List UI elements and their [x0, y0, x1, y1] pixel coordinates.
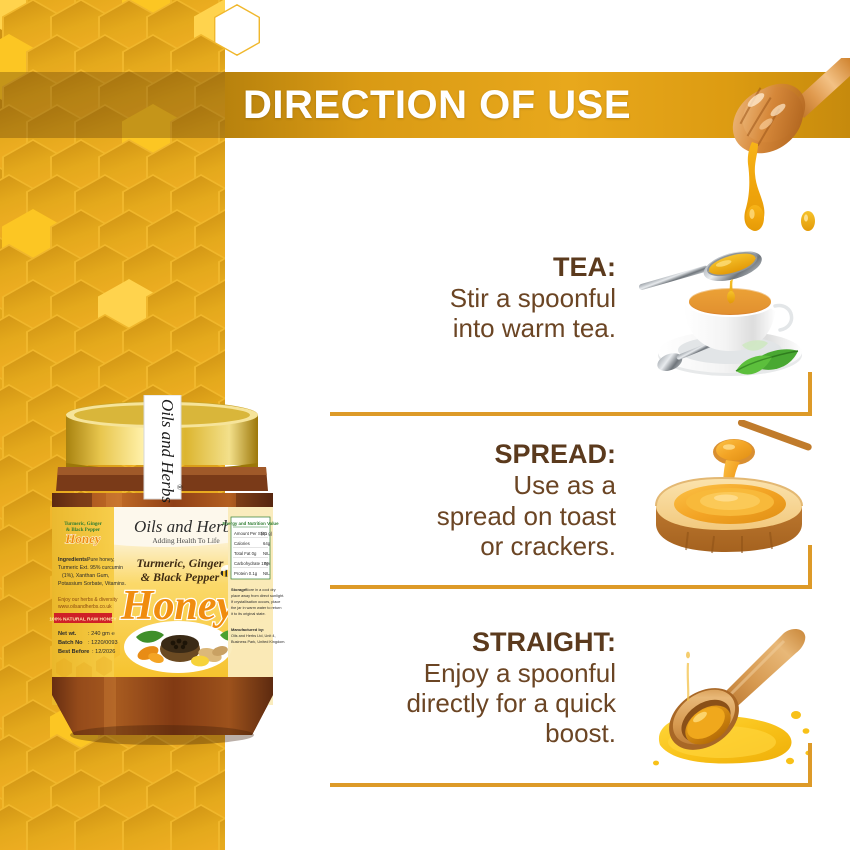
svg-text:(21 g): (21 g) [261, 531, 273, 536]
svg-text:: 1220/0093: : 1220/0093 [88, 640, 118, 646]
svg-text:Business Park, United Kingdom.: Business Park, United Kingdom. [231, 640, 285, 644]
svg-text:Oils and Herbs Ltd, Unit 4,: Oils and Herbs Ltd, Unit 4, [231, 634, 276, 638]
instruction-row-tea: TEA: Stir a spoonful into warm tea. [330, 205, 830, 390]
svg-text:NIL: NIL [263, 551, 270, 556]
svg-text:NIL: NIL [263, 571, 270, 576]
svg-text:Total Fat 0g: Total Fat 0g [234, 551, 257, 556]
svg-text:Manufactured by:: Manufactured by: [231, 627, 264, 632]
svg-text:Enjoy our herbs & diversity: Enjoy our herbs & diversity [58, 597, 118, 603]
infographic-canvas: DIRECTION OF USE [0, 0, 850, 850]
instructions-list: TEA: Stir a spoonful into warm tea. [330, 205, 830, 805]
instruction-text-spread: SPREAD: Use as a spread on toast or crac… [330, 439, 630, 561]
svg-text:Calories: Calories [234, 541, 250, 546]
instruction-body-straight-line2: directly for a quick [330, 688, 616, 718]
svg-text:it to its original state.: it to its original state. [231, 612, 266, 616]
svg-text:: 240 gm ℮: : 240 gm ℮ [88, 631, 115, 637]
brand-tagline: Adding Health To Life [152, 536, 220, 545]
instruction-text-straight: STRAIGHT: Enjoy a spoonful directly for … [330, 627, 630, 749]
svg-text:If crystallisation occurs, pla: If crystallisation occurs, place [231, 600, 280, 604]
instruction-body-tea-line1: Stir a spoonful [330, 283, 616, 313]
variant-line-1: Turmeric, Ginger [137, 556, 224, 570]
variant-line-2: & Black Pepper [141, 570, 220, 584]
svg-text:www.oilsandherbs.co.uk: www.oilsandherbs.co.uk [58, 604, 112, 610]
sidebar-banner-overlay [0, 72, 225, 138]
svg-text:Best Before: Best Before [58, 649, 89, 655]
svg-text:Turmeric, Ginger: Turmeric, Ginger [64, 522, 102, 527]
svg-text:Net wt.: Net wt. [58, 631, 77, 637]
instruction-body-tea-line2: into warm tea. [330, 313, 616, 343]
svg-text:Protein 0.1g: Protein 0.1g [234, 571, 258, 576]
instruction-body-spread-line1: Use as a [330, 470, 616, 500]
svg-text:place away from direct sunligh: place away from direct sunlight. [231, 594, 284, 598]
brand-name: Oils and Herbs [134, 517, 238, 536]
cap-strip-text: Oils and Herbs [158, 399, 177, 503]
svg-text:Pure honey,: Pure honey, [87, 557, 115, 563]
svg-text:Honey: Honey [64, 531, 101, 546]
svg-text:Turmeric Ext. 95% curcumin: Turmeric Ext. 95% curcumin [58, 565, 123, 571]
svg-text:(1%), Xanthan Gum,: (1%), Xanthan Gum, [62, 573, 109, 579]
svg-text:Ingredients:: Ingredients: [58, 557, 89, 563]
svg-text:64g: 64g [263, 541, 271, 546]
page-title: DIRECTION OF USE [243, 83, 631, 128]
instruction-body-straight-line1: Enjoy a spoonful [330, 658, 616, 688]
section-divider-3 [330, 743, 830, 787]
instruction-body-spread-line2: spread on toast [330, 501, 616, 531]
svg-text:®: ® [175, 484, 183, 490]
section-divider-1 [330, 372, 830, 416]
svg-text:Store in a cool dry: Store in a cool dry [245, 588, 276, 592]
svg-text:Batch No: Batch No [58, 640, 83, 646]
svg-text:100% NATURAL RAW HONEY: 100% NATURAL RAW HONEY [49, 616, 117, 622]
svg-text:6%: 6% [264, 561, 270, 566]
teacup-with-honey-spoon-icon [630, 205, 830, 390]
instruction-title-straight: STRAIGHT: [330, 627, 616, 658]
instruction-text-tea: TEA: Stir a spoonful into warm tea. [330, 252, 630, 344]
instruction-title-tea: TEA: [330, 252, 616, 283]
svg-text:: 12/2026: : 12/2026 [92, 649, 115, 655]
section-divider-2 [330, 545, 830, 589]
svg-text:the jar in warm water to retur: the jar in warm water to return [231, 606, 281, 610]
product-jar: Oils and Herbs ® Oils and Herbs ® Adding… [40, 395, 285, 765]
nutrition-title: Energy and Nutrition Value [222, 521, 279, 526]
svg-text:Potassium Sorbate, Vitamins.: Potassium Sorbate, Vitamins. [58, 581, 126, 587]
instruction-title-spread: SPREAD: [330, 439, 616, 470]
